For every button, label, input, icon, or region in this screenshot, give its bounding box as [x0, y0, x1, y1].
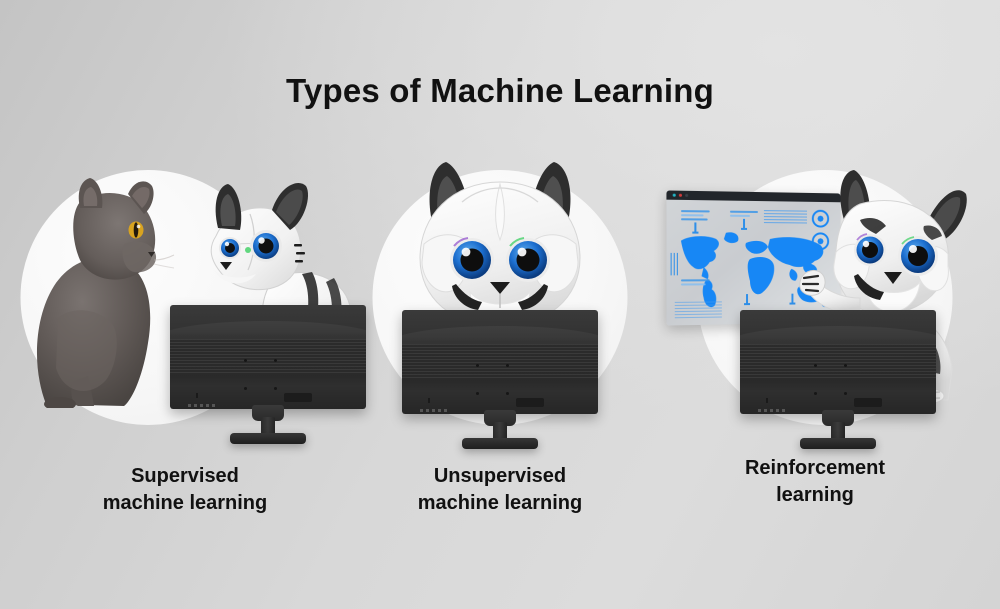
real-cat-image: [28, 168, 178, 408]
computer-monitor: [740, 310, 936, 448]
robot-eye-right: [898, 236, 938, 276]
widget-text-bars: [681, 210, 710, 234]
window-dot-teal-icon: [673, 194, 676, 197]
robot-eye-left: [450, 238, 494, 282]
robot-eye-left: [219, 237, 241, 259]
monitor-panel: [740, 310, 936, 414]
robot-eye-left: [854, 234, 886, 266]
widget-text-bars: [730, 211, 758, 230]
window-dot-dark-icon: [685, 194, 688, 197]
panel-caption: Supervised machine learning: [20, 463, 350, 517]
panel-unsupervised[interactable]: Unsupervised machine learning: [335, 150, 665, 570]
monitor-base: [800, 438, 876, 449]
page-title: Types of Machine Learning: [0, 72, 1000, 110]
caption-line-1: Supervised: [20, 463, 350, 490]
monitor-base: [462, 438, 538, 449]
panel-supervised[interactable]: Supervised machine learning: [20, 150, 350, 570]
robot-paw: [800, 270, 825, 295]
widget-side-bars: [671, 253, 679, 275]
panel-caption: Reinforcement learning: [650, 455, 980, 509]
computer-monitor: [402, 310, 598, 448]
caption-line-1: Reinforcement: [650, 455, 980, 482]
widget-stem: [740, 293, 754, 305]
slide-canvas: Types of Machine Learning: [0, 0, 1000, 609]
robot-eye-right: [250, 230, 282, 262]
caption-line-2: machine learning: [20, 490, 350, 517]
widget-text-block: [675, 301, 722, 318]
monitor-panel: [402, 310, 598, 414]
caption-line-2: learning: [650, 482, 980, 509]
caption-line-1: Unsupervised: [335, 463, 665, 490]
window-dot-red-icon: [679, 194, 682, 197]
panel-reinforcement[interactable]: Reinforcement learning: [650, 150, 980, 570]
monitor-base: [230, 433, 306, 444]
panel-caption: Unsupervised machine learning: [335, 463, 665, 517]
robot-eye-right: [506, 238, 550, 282]
caption-line-2: machine learning: [335, 490, 665, 517]
widget-text-bars: [681, 279, 710, 287]
